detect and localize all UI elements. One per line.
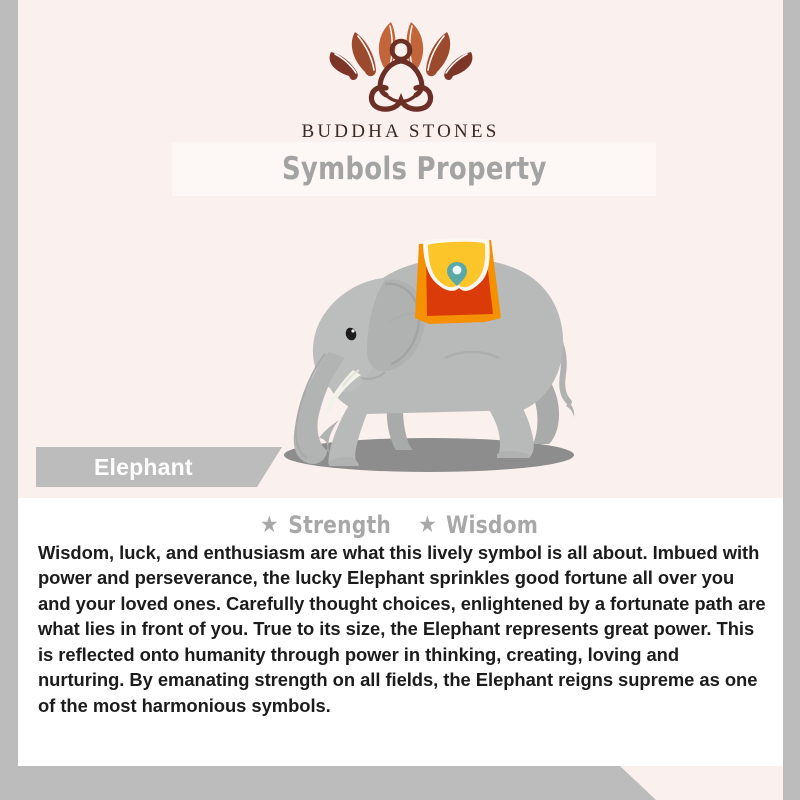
page-title: Symbols Property: [282, 151, 547, 187]
star-icon: ★: [418, 514, 437, 537]
description-panel: ★ Strength ★ Wisdom Wisdom, luck, and en…: [18, 498, 783, 766]
property-wisdom-label: Wisdom: [446, 511, 538, 539]
frame-right-bar: [783, 0, 800, 800]
symbol-property-card: BUDDHA STONES Symbols Property: [0, 0, 800, 800]
properties-row: ★ Strength ★ Wisdom: [18, 498, 783, 539]
lotus-meditation-icon: [18, 18, 783, 119]
property-strength-label: Strength: [288, 511, 391, 539]
symbol-name: Elephant: [94, 454, 193, 481]
property-wisdom: ★ Wisdom: [418, 511, 541, 539]
symbol-description: Wisdom, luck, and enthusiasm are what th…: [18, 540, 783, 718]
star-icon: ★: [260, 514, 279, 537]
frame-left-bar: [0, 0, 18, 800]
walking-elephant-illustration: [233, 218, 603, 488]
property-strength: ★ Strength: [260, 511, 394, 539]
hero-section: BUDDHA STONES Symbols Property: [18, 0, 783, 498]
symbol-name-tag: Elephant: [36, 447, 282, 487]
title-banner: Symbols Property: [172, 142, 656, 196]
brand-logo: BUDDHA STONES: [18, 18, 783, 143]
frame-bottom-bar: [0, 766, 800, 800]
brand-wordmark: BUDDHA STONES: [18, 121, 783, 143]
